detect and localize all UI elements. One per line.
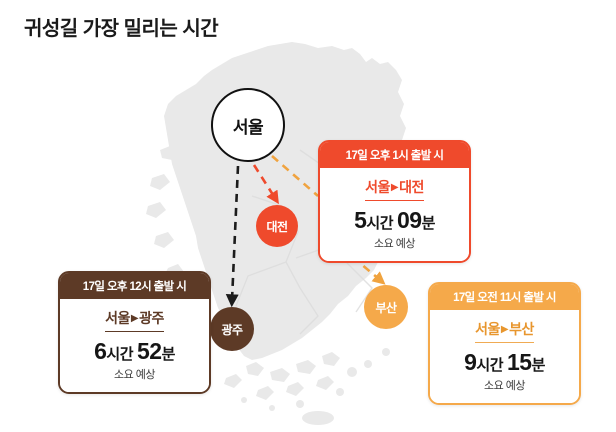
duration-hours-gwangju: 6 <box>94 338 106 364</box>
route-to-daejeon: 대전 <box>399 179 424 195</box>
duration-note-daejeon: 소요 예상 <box>326 235 463 251</box>
city-label-seoul: 서울 <box>233 113 263 138</box>
arrow-seoul-to-busan-upper <box>272 156 318 196</box>
card-depart-label-busan: 17일 오전 11시 출발 시 <box>430 284 579 310</box>
card-body-gwangju: 서울▶광주 6시간 52분 소요 예상 <box>60 299 209 392</box>
duration-minutes-busan: 15 <box>507 349 532 375</box>
duration-note-gwangju: 소요 예상 <box>66 366 203 382</box>
city-marker-seoul[interactable]: 서울 <box>211 88 285 162</box>
route-arrow-icon-gwangju: ▶ <box>130 313 139 324</box>
route-arrow-icon-busan: ▶ <box>500 324 509 335</box>
info-card-busan[interactable]: 17일 오전 11시 출발 시 서울▶부산 9시간 15분 소요 예상 <box>428 282 581 405</box>
duration-minutes-unit-busan: 분 <box>532 357 545 374</box>
info-card-daejeon[interactable]: 17일 오후 1시 출발 시 서울▶대전 5시간 09분 소요 예상 <box>318 140 471 263</box>
route-from-gwangju: 서울 <box>105 310 130 326</box>
card-depart-label-daejeon: 17일 오후 1시 출발 시 <box>320 142 469 168</box>
route-from-busan: 서울 <box>475 321 500 337</box>
city-marker-gwangju[interactable]: 광주 <box>210 307 254 351</box>
card-body-busan: 서울▶부산 9시간 15분 소요 예상 <box>430 310 579 403</box>
route-label-gwangju: 서울▶광주 <box>105 308 164 332</box>
card-body-daejeon: 서울▶대전 5시간 09분 소요 예상 <box>320 168 469 261</box>
route-to-busan: 부산 <box>509 321 534 337</box>
duration-note-busan: 소요 예상 <box>436 377 573 393</box>
duration-gwangju: 6시간 52분 <box>66 338 203 365</box>
duration-hours-busan: 9 <box>464 349 476 375</box>
card-depart-label-gwangju: 17일 오후 12시 출발 시 <box>60 273 209 299</box>
duration-minutes-gwangju: 52 <box>137 338 162 364</box>
duration-hours-unit-gwangju: 시간 <box>106 346 133 363</box>
route-label-daejeon: 서울▶대전 <box>365 177 424 201</box>
duration-hours-unit-busan: 시간 <box>476 357 503 374</box>
arrow-seoul-to-gwangju <box>232 166 238 300</box>
duration-hours-daejeon: 5 <box>354 207 366 233</box>
duration-minutes-daejeon: 09 <box>397 207 422 233</box>
duration-busan: 9시간 15분 <box>436 349 573 376</box>
duration-hours-unit-daejeon: 시간 <box>366 215 393 232</box>
city-marker-daejeon[interactable]: 대전 <box>256 205 298 247</box>
duration-minutes-unit-gwangju: 분 <box>162 346 175 363</box>
route-from-daejeon: 서울 <box>365 179 390 195</box>
city-label-gwangju: 광주 <box>221 321 242 338</box>
info-card-gwangju[interactable]: 17일 오후 12시 출발 시 서울▶광주 6시간 52분 소요 예상 <box>58 271 211 394</box>
route-arrow-icon-daejeon: ▶ <box>390 182 399 193</box>
duration-minutes-unit-daejeon: 분 <box>422 215 435 232</box>
arrow-seoul-to-daejeon <box>254 165 275 198</box>
city-label-daejeon: 대전 <box>266 218 287 235</box>
city-label-busan: 부산 <box>375 299 396 316</box>
duration-daejeon: 5시간 09분 <box>326 207 463 234</box>
city-marker-busan[interactable]: 부산 <box>364 285 408 329</box>
infographic-canvas: 귀성길 가장 밀리는 시간 <box>0 0 616 432</box>
route-to-gwangju: 광주 <box>139 310 164 326</box>
route-label-busan: 서울▶부산 <box>475 319 534 343</box>
